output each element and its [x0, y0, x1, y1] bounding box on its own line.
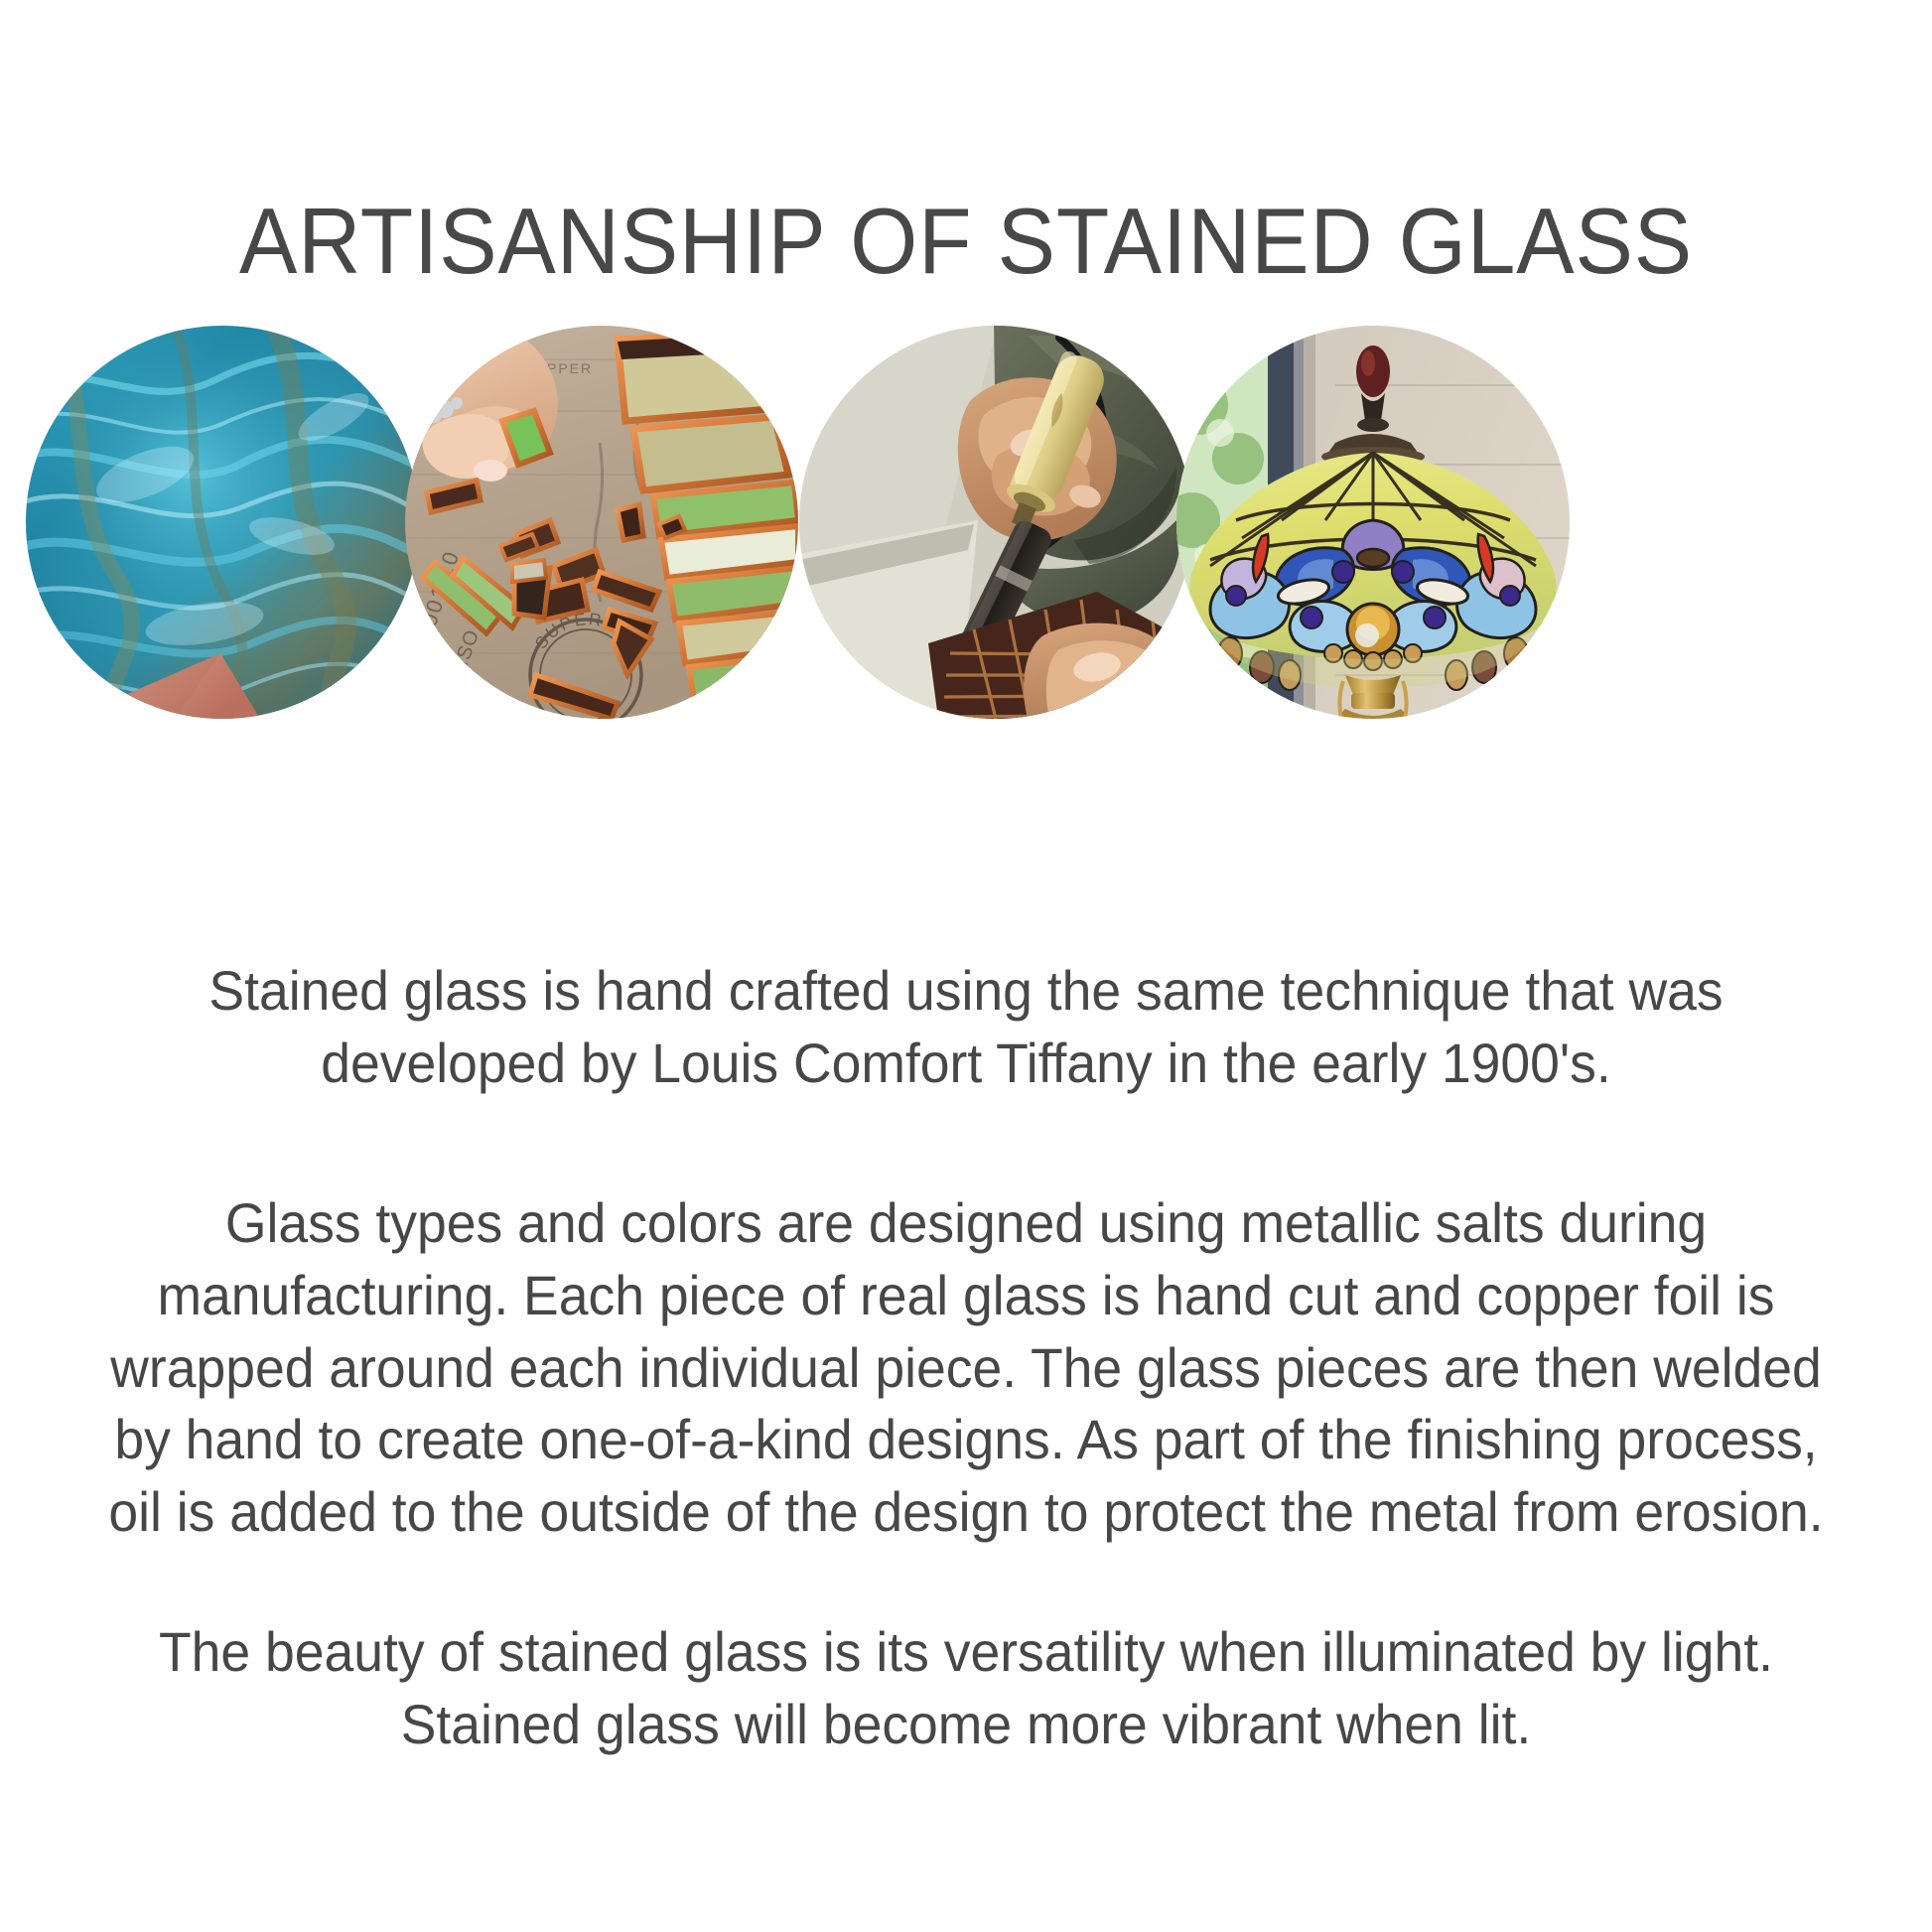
- paragraph-3: The beauty of stained glass is its versa…: [81, 1616, 1851, 1761]
- paragraph-2: Glass types and colors are designed usin…: [81, 1187, 1851, 1549]
- infographic-page: ARTISANSHIP OF STAINED GLASS: [0, 0, 1932, 1932]
- paragraph-1: Stained glass is hand crafted using the …: [81, 955, 1851, 1100]
- gallery-image-blue-art-glass-sheet: [26, 326, 419, 719]
- glass-cutting-illustration: SUPER QU 9001:20 ISO COPPER: [405, 326, 798, 719]
- blue-glass-illustration: [26, 326, 419, 719]
- gallery-image-copper-foiled-glass-pieces: SUPER QU 9001:20 ISO COPPER: [405, 326, 798, 719]
- tiffany-lamp-illustration: [1176, 326, 1570, 719]
- gallery-image-tiffany-lamp-lit: [1176, 326, 1570, 719]
- soldering-illustration: [799, 326, 1192, 719]
- image-gallery: SUPER QU 9001:20 ISO COPPER: [0, 326, 1932, 719]
- gallery-image-soldering-stained-glass-panel: [799, 326, 1192, 719]
- page-title: ARTISANSHIP OF STAINED GLASS: [68, 195, 1864, 288]
